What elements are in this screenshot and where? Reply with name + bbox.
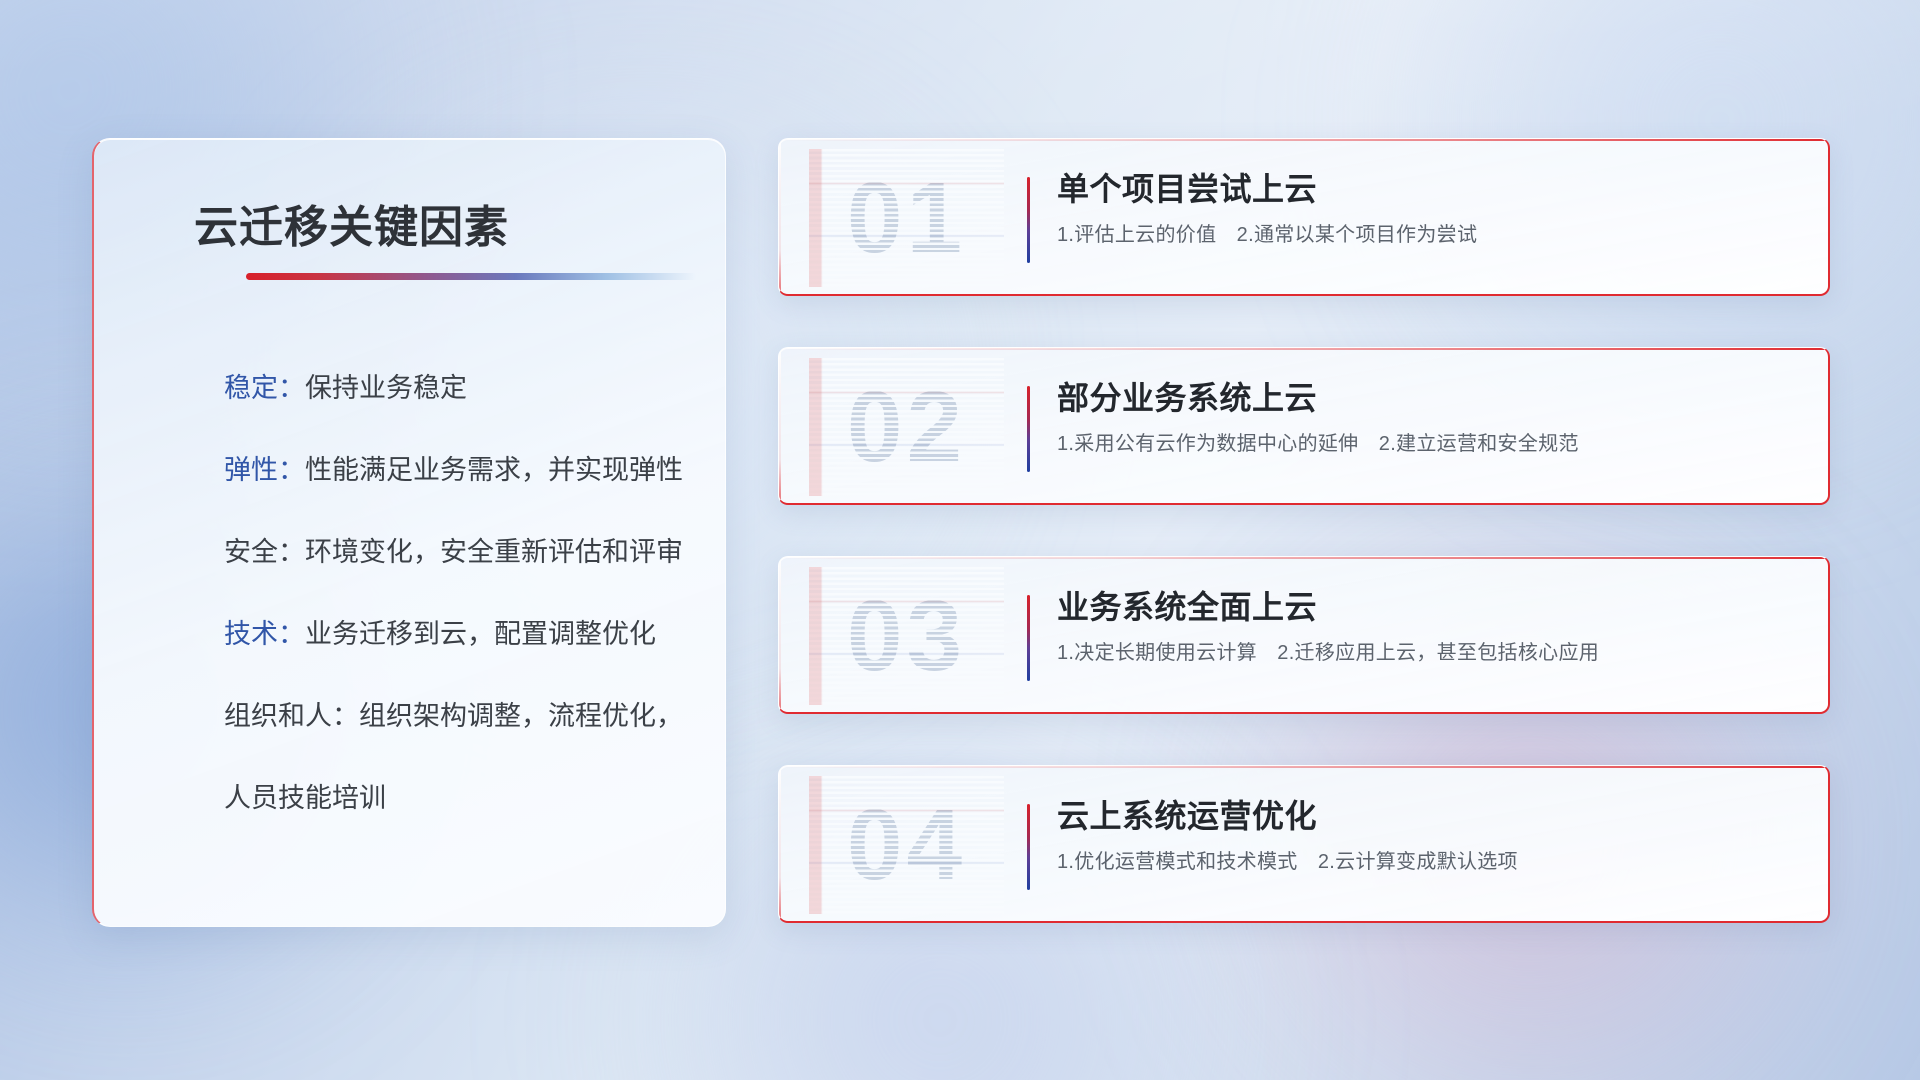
stage-card-description: 1.决定长期使用云计算 2.迁移应用上云，甚至包括核心应用	[1057, 641, 1794, 665]
list-item-text: 人员技能培训	[224, 783, 386, 813]
stage-number-01: 01	[809, 149, 1004, 287]
list-item-label: 弹性：	[224, 455, 305, 485]
stage-number-color-tint	[809, 149, 1004, 287]
stage-card-description: 1.优化运营模式和技术模式 2.云计算变成默认选项	[1057, 850, 1794, 874]
stage-card-body: 单个项目尝试上云 1.评估上云的价值 2.通常以某个项目作为尝试	[1057, 169, 1794, 247]
list-item-text: 环境变化，安全重新评估和评审	[305, 537, 683, 567]
list-item: 安全：环境变化，安全重新评估和评审	[224, 539, 697, 566]
stage-card-03[interactable]: 03 业务系统全面上云 1.决定长期使用云计算 2.迁移应用上云，甚至包括核心应…	[778, 556, 1830, 714]
list-item: 稳定：保持业务稳定	[224, 375, 697, 402]
stage-card-02[interactable]: 02 部分业务系统上云 1.采用公有云作为数据中心的延伸 2.建立运营和安全规范	[778, 347, 1830, 505]
list-item-label: 稳定：	[224, 373, 305, 403]
stage-number-color-tint	[809, 358, 1004, 496]
stage-card-title: 部分业务系统上云	[1057, 378, 1794, 418]
stage-card-description: 1.采用公有云作为数据中心的延伸 2.建立运营和安全规范	[1057, 432, 1794, 456]
stage-number-color-tint	[809, 567, 1004, 705]
page-title: 云迁移关键因素	[194, 191, 509, 255]
key-factors-list: 稳定：保持业务稳定 弹性：性能满足业务需求，并实现弹性 安全：环境变化，安全重新…	[224, 375, 697, 812]
stage-card-body: 云上系统运营优化 1.优化运营模式和技术模式 2.云计算变成默认选项	[1057, 796, 1794, 874]
stage-card-01[interactable]: 01 单个项目尝试上云 1.评估上云的价值 2.通常以某个项目作为尝试	[778, 138, 1830, 296]
list-item: 弹性：性能满足业务需求，并实现弹性	[224, 457, 697, 484]
title-underline-accent	[246, 273, 696, 280]
slide-stage: 云迁移关键因素 稳定：保持业务稳定 弹性：性能满足业务需求，并实现弹性 安全：环…	[0, 0, 1920, 1080]
list-item: 人员技能培训	[224, 785, 697, 812]
list-item-text: 组织架构调整，流程优化，	[359, 701, 683, 731]
list-item: 组织和人：组织架构调整，流程优化，	[224, 703, 697, 730]
stage-number-04: 04	[809, 776, 1004, 914]
stage-number-03: 03	[809, 567, 1004, 705]
list-item-label: 组织和人：	[224, 701, 359, 731]
list-item-text: 业务迁移到云，配置调整优化	[305, 619, 656, 649]
stage-number-02: 02	[809, 358, 1004, 496]
stage-number-color-tint	[809, 776, 1004, 914]
list-item-label: 安全：	[224, 537, 305, 567]
stage-card-title: 单个项目尝试上云	[1057, 169, 1794, 209]
stage-accent-bar	[1027, 595, 1030, 681]
stage-accent-bar	[1027, 177, 1030, 263]
stage-card-04[interactable]: 04 云上系统运营优化 1.优化运营模式和技术模式 2.云计算变成默认选项	[778, 765, 1830, 923]
list-item-text: 性能满足业务需求，并实现弹性	[305, 455, 683, 485]
stage-accent-bar	[1027, 386, 1030, 472]
list-item-text: 保持业务稳定	[305, 373, 467, 403]
key-factors-panel: 云迁移关键因素 稳定：保持业务稳定 弹性：性能满足业务需求，并实现弹性 安全：环…	[92, 138, 726, 927]
list-item: 技术：业务迁移到云，配置调整优化	[224, 621, 697, 648]
stage-card-body: 部分业务系统上云 1.采用公有云作为数据中心的延伸 2.建立运营和安全规范	[1057, 378, 1794, 456]
stage-card-title: 业务系统全面上云	[1057, 587, 1794, 627]
cloud-migration-stages: 01 单个项目尝试上云 1.评估上云的价值 2.通常以某个项目作为尝试 02 部…	[778, 138, 1830, 923]
list-item-label: 技术：	[224, 619, 305, 649]
stage-card-body: 业务系统全面上云 1.决定长期使用云计算 2.迁移应用上云，甚至包括核心应用	[1057, 587, 1794, 665]
stage-accent-bar	[1027, 804, 1030, 890]
stage-card-title: 云上系统运营优化	[1057, 796, 1794, 836]
stage-card-description: 1.评估上云的价值 2.通常以某个项目作为尝试	[1057, 223, 1794, 247]
